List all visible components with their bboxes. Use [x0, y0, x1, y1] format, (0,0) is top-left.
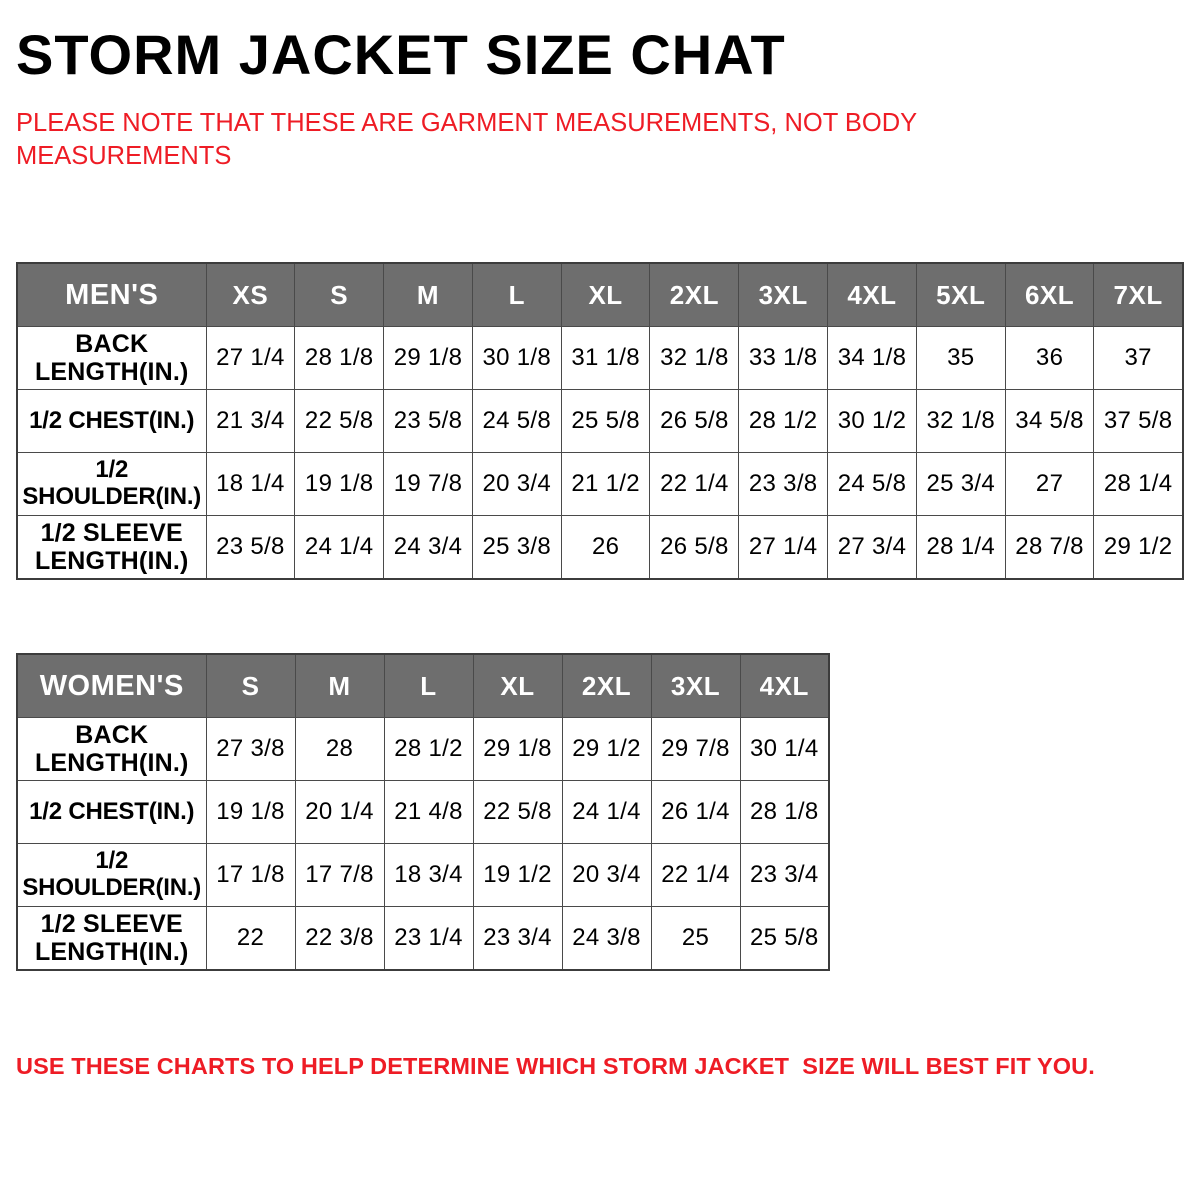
womens-table-header: WOMEN'S SMLXL2XL3XL4XL [17, 654, 829, 718]
mens-measurement-cell: 18 1/4 [206, 453, 295, 516]
womens-measurement-cell: 19 1/2 [473, 844, 562, 907]
mens-measurement-cell: 23 5/8 [384, 390, 473, 453]
womens-row-label: 1/2 SLEEVELENGTH(IN.) [17, 907, 206, 971]
mens-measurement-cell: 37 [1094, 327, 1183, 390]
womens-measurement-cell: 23 1/4 [384, 907, 473, 971]
table-row: BACKLENGTH(IN.)27 3/82828 1/229 1/829 1/… [17, 718, 829, 781]
mens-row-label-line1: BACK [20, 330, 204, 358]
page-title: STORM JACKET SIZE CHAT [16, 0, 1184, 85]
womens-measurement-cell: 29 7/8 [651, 718, 740, 781]
mens-measurement-cell: 22 1/4 [650, 453, 739, 516]
mens-size-header-6xl: 6XL [1005, 263, 1094, 327]
mens-row-label: 1/2 SHOULDER(IN.) [17, 453, 206, 516]
womens-measurement-cell: 25 [651, 907, 740, 971]
womens-measurement-cell: 22 1/4 [651, 844, 740, 907]
mens-measurement-cell: 28 1/2 [739, 390, 828, 453]
mens-measurement-cell: 26 5/8 [650, 390, 739, 453]
womens-measurement-cell: 28 [295, 718, 384, 781]
mens-measurement-cell: 34 5/8 [1005, 390, 1094, 453]
table-row: 1/2 CHEST(IN.)21 3/422 5/823 5/824 5/825… [17, 390, 1183, 453]
mens-table-header: MEN'S XSSMLXL2XL3XL4XL5XL6XL7XL [17, 263, 1183, 327]
mens-measurement-cell: 19 1/8 [295, 453, 384, 516]
mens-measurement-cell: 36 [1005, 327, 1094, 390]
womens-row-label: BACKLENGTH(IN.) [17, 718, 206, 781]
womens-measurement-cell: 24 3/8 [562, 907, 651, 971]
mens-measurement-cell: 30 1/8 [472, 327, 561, 390]
womens-size-header-l: L [384, 654, 473, 718]
mens-size-header-m: M [384, 263, 473, 327]
womens-size-header-4xl: 4XL [740, 654, 829, 718]
womens-measurement-cell: 22 [206, 907, 295, 971]
mens-size-header-s: S [295, 263, 384, 327]
table-row: 1/2 SLEEVELENGTH(IN.)23 5/824 1/424 3/42… [17, 516, 1183, 580]
mens-row-label: 1/2 SLEEVELENGTH(IN.) [17, 516, 206, 580]
mens-size-header-5xl: 5XL [916, 263, 1005, 327]
womens-measurement-cell: 24 1/4 [562, 781, 651, 844]
womens-measurement-cell: 20 3/4 [562, 844, 651, 907]
womens-measurement-cell: 22 5/8 [473, 781, 562, 844]
womens-size-table: WOMEN'S SMLXL2XL3XL4XL BACKLENGTH(IN.)27… [16, 653, 830, 971]
womens-row-label-line1: BACK [20, 721, 204, 749]
mens-measurement-cell: 27 1/4 [739, 516, 828, 580]
mens-measurement-cell: 25 5/8 [561, 390, 650, 453]
mens-measurement-cell: 25 3/4 [916, 453, 1005, 516]
garment-measurement-notice: PLEASE NOTE THAT THESE ARE GARMENT MEASU… [16, 85, 976, 174]
mens-size-table: MEN'S XSSMLXL2XL3XL4XL5XL6XL7XL BACKLENG… [16, 262, 1184, 580]
womens-measurement-cell: 17 7/8 [295, 844, 384, 907]
mens-measurement-cell: 27 [1005, 453, 1094, 516]
table-row: 1/2 SHOULDER(IN.)18 1/419 1/819 7/820 3/… [17, 453, 1183, 516]
mens-row-label-line2: LENGTH(IN.) [20, 547, 204, 575]
mens-measurement-cell: 22 5/8 [295, 390, 384, 453]
size-guidance-notice: USE THESE CHARTS TO HELP DETERMINE WHICH… [16, 1053, 1095, 1080]
mens-size-header-7xl: 7XL [1094, 263, 1183, 327]
womens-size-header-s: S [206, 654, 295, 718]
womens-measurement-cell: 17 1/8 [206, 844, 295, 907]
table-row: 1/2 CHEST(IN.)19 1/820 1/421 4/822 5/824… [17, 781, 829, 844]
womens-size-header-3xl: 3XL [651, 654, 740, 718]
womens-measurement-cell: 29 1/2 [562, 718, 651, 781]
mens-measurement-cell: 27 3/4 [828, 516, 917, 580]
womens-measurement-cell: 27 3/8 [206, 718, 295, 781]
womens-measurement-cell: 20 1/4 [295, 781, 384, 844]
womens-measurement-cell: 30 1/4 [740, 718, 829, 781]
mens-measurement-cell: 24 3/4 [384, 516, 473, 580]
womens-corner-label: WOMEN'S [17, 654, 206, 718]
mens-measurement-cell: 30 1/2 [828, 390, 917, 453]
womens-measurement-cell: 28 1/8 [740, 781, 829, 844]
mens-measurement-cell: 24 1/4 [295, 516, 384, 580]
mens-row-label: BACKLENGTH(IN.) [17, 327, 206, 390]
womens-row-label: 1/2 SHOULDER(IN.) [17, 844, 206, 907]
womens-size-table-container: WOMEN'S SMLXL2XL3XL4XL BACKLENGTH(IN.)27… [16, 653, 830, 971]
table-row: 1/2 SHOULDER(IN.)17 1/817 7/818 3/419 1/… [17, 844, 829, 907]
size-chart-page: STORM JACKET SIZE CHAT PLEASE NOTE THAT … [0, 0, 1200, 1200]
mens-measurement-cell: 28 7/8 [1005, 516, 1094, 580]
mens-size-header-l: L [472, 263, 561, 327]
mens-measurement-cell: 29 1/2 [1094, 516, 1183, 580]
table-row: BACKLENGTH(IN.)27 1/428 1/829 1/830 1/83… [17, 327, 1183, 390]
mens-size-header-xs: XS [206, 263, 295, 327]
womens-row-label-line1: 1/2 CHEST(IN.) [20, 799, 204, 826]
womens-measurement-cell: 23 3/4 [740, 844, 829, 907]
mens-measurement-cell: 28 1/4 [1094, 453, 1183, 516]
mens-corner-label: MEN'S [17, 263, 206, 327]
womens-table-body: BACKLENGTH(IN.)27 3/82828 1/229 1/829 1/… [17, 718, 829, 971]
mens-measurement-cell: 20 3/4 [472, 453, 561, 516]
mens-row-label-line1: 1/2 SHOULDER(IN.) [20, 457, 204, 511]
womens-measurement-cell: 19 1/8 [206, 781, 295, 844]
mens-size-header-xl: XL [561, 263, 650, 327]
mens-measurement-cell: 26 [561, 516, 650, 580]
mens-row-label-line1: 1/2 SLEEVE [20, 519, 204, 547]
mens-measurement-cell: 28 1/8 [295, 327, 384, 390]
mens-measurement-cell: 26 5/8 [650, 516, 739, 580]
womens-measurement-cell: 23 3/4 [473, 907, 562, 971]
womens-measurement-cell: 28 1/2 [384, 718, 473, 781]
womens-measurement-cell: 29 1/8 [473, 718, 562, 781]
mens-measurement-cell: 27 1/4 [206, 327, 295, 390]
mens-measurement-cell: 28 1/4 [916, 516, 1005, 580]
mens-measurement-cell: 34 1/8 [828, 327, 917, 390]
mens-row-label-line1: 1/2 CHEST(IN.) [20, 408, 204, 435]
womens-row-label: 1/2 CHEST(IN.) [17, 781, 206, 844]
mens-measurement-cell: 32 1/8 [916, 390, 1005, 453]
mens-measurement-cell: 35 [916, 327, 1005, 390]
mens-size-header-4xl: 4XL [828, 263, 917, 327]
mens-measurement-cell: 31 1/8 [561, 327, 650, 390]
womens-row-label-line1: 1/2 SHOULDER(IN.) [20, 848, 204, 902]
womens-row-label-line2: LENGTH(IN.) [20, 938, 204, 966]
mens-size-table-container: MEN'S XSSMLXL2XL3XL4XL5XL6XL7XL BACKLENG… [16, 262, 1184, 580]
womens-measurement-cell: 21 4/8 [384, 781, 473, 844]
mens-measurement-cell: 24 5/8 [472, 390, 561, 453]
mens-table-body: BACKLENGTH(IN.)27 1/428 1/829 1/830 1/83… [17, 327, 1183, 580]
womens-row-label-line2: LENGTH(IN.) [20, 749, 204, 777]
mens-header-row: MEN'S XSSMLXL2XL3XL4XL5XL6XL7XL [17, 263, 1183, 327]
mens-measurement-cell: 33 1/8 [739, 327, 828, 390]
mens-measurement-cell: 19 7/8 [384, 453, 473, 516]
mens-measurement-cell: 21 3/4 [206, 390, 295, 453]
mens-size-header-2xl: 2XL [650, 263, 739, 327]
womens-row-label-line1: 1/2 SLEEVE [20, 910, 204, 938]
mens-row-label-line2: LENGTH(IN.) [20, 358, 204, 386]
mens-measurement-cell: 29 1/8 [384, 327, 473, 390]
womens-measurement-cell: 22 3/8 [295, 907, 384, 971]
womens-size-header-xl: XL [473, 654, 562, 718]
mens-measurement-cell: 32 1/8 [650, 327, 739, 390]
mens-measurement-cell: 25 3/8 [472, 516, 561, 580]
womens-measurement-cell: 25 5/8 [740, 907, 829, 971]
womens-size-header-m: M [295, 654, 384, 718]
mens-size-header-3xl: 3XL [739, 263, 828, 327]
mens-measurement-cell: 23 3/8 [739, 453, 828, 516]
mens-measurement-cell: 21 1/2 [561, 453, 650, 516]
mens-measurement-cell: 37 5/8 [1094, 390, 1183, 453]
table-row: 1/2 SLEEVELENGTH(IN.)2222 3/823 1/423 3/… [17, 907, 829, 971]
womens-header-row: WOMEN'S SMLXL2XL3XL4XL [17, 654, 829, 718]
mens-measurement-cell: 24 5/8 [828, 453, 917, 516]
womens-measurement-cell: 18 3/4 [384, 844, 473, 907]
womens-measurement-cell: 26 1/4 [651, 781, 740, 844]
womens-size-header-2xl: 2XL [562, 654, 651, 718]
mens-measurement-cell: 23 5/8 [206, 516, 295, 580]
mens-row-label: 1/2 CHEST(IN.) [17, 390, 206, 453]
